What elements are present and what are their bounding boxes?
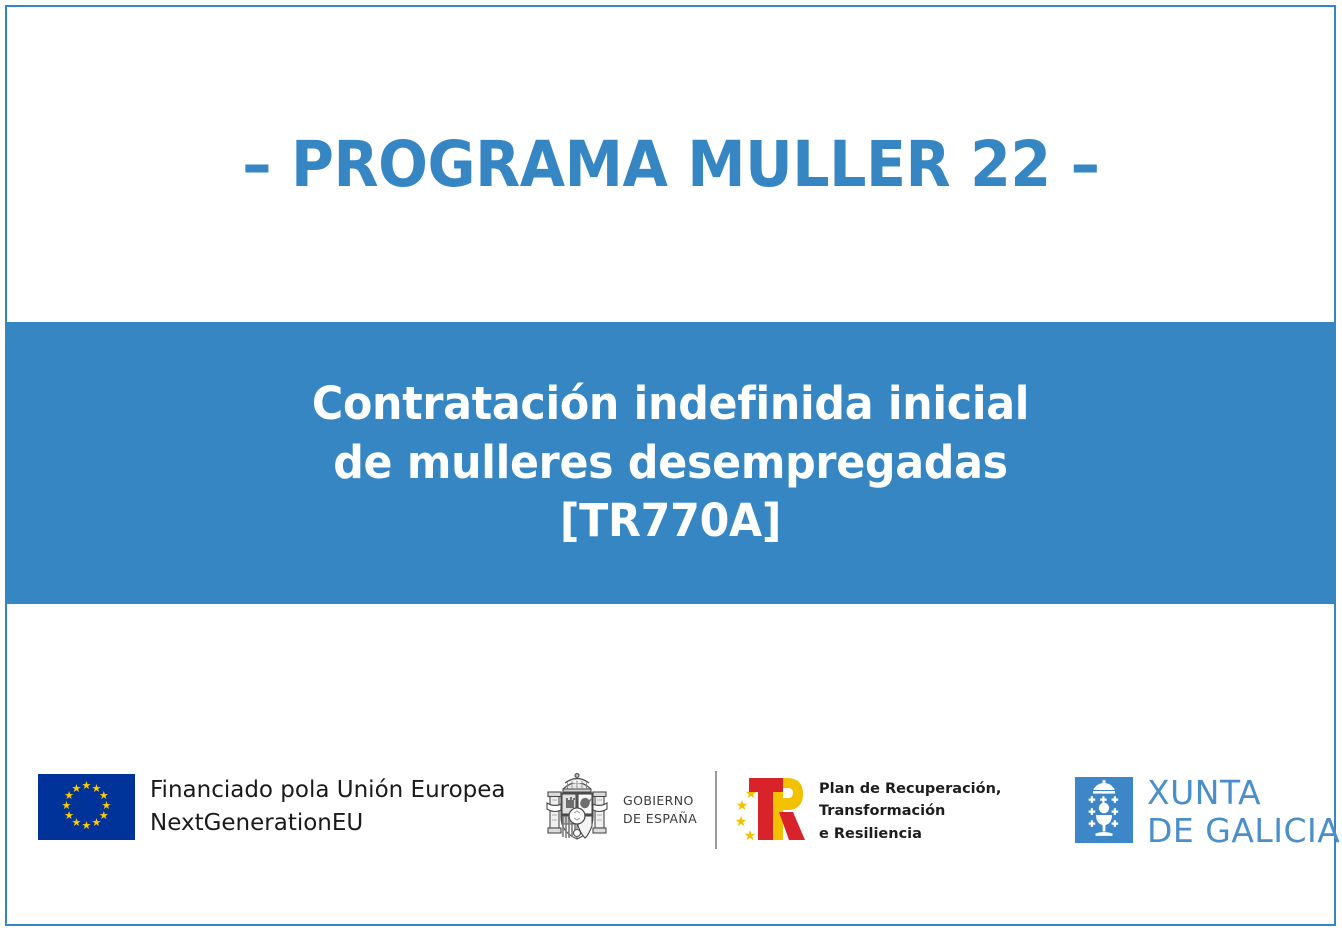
eu-funding-block: Financiado pola Unión Europea NextGenera… [38, 774, 506, 840]
footer-section: Financiado pola Unión Europea NextGenera… [7, 604, 1334, 926]
page-title: – PROGRAMA MULLER 22 – [242, 133, 1099, 196]
logo-row: Financiado pola Unión Europea NextGenera… [7, 774, 1334, 874]
band-title: Contratación indefinida inicial de mulle… [312, 375, 1029, 552]
prtr-line-2: Transformación [819, 800, 1001, 822]
prtr-block: Plan de Recuperación, Transformación e R… [729, 772, 1001, 851]
gobierno-espana-text: GOBIERNO DE ESPAÑA [623, 792, 697, 827]
band-title-line-2: de mulleres desempregadas [312, 434, 1029, 493]
spain-coat-of-arms-icon [541, 770, 613, 849]
gobierno-line-1: GOBIERNO [623, 792, 697, 809]
prtr-text: Plan de Recuperación, Transformación e R… [819, 778, 1001, 845]
header-section: – PROGRAMA MULLER 22 – [7, 7, 1334, 322]
band-title-line-1: Contratación indefinida inicial [312, 375, 1029, 434]
gobierno-line-2: DE ESPAÑA [623, 810, 697, 827]
poster-page: – PROGRAMA MULLER 22 – Contratación inde… [0, 0, 1342, 933]
galicia-emblem-icon [1075, 777, 1133, 848]
title-band: Contratación indefinida inicial de mulle… [7, 322, 1334, 604]
prtr-line-3: e Resiliencia [819, 823, 1001, 845]
prtr-tr-logo-icon [729, 772, 805, 851]
prtr-line-1: Plan de Recuperación, [819, 778, 1001, 800]
gobierno-espana-block: GOBIERNO DE ESPAÑA [541, 770, 697, 849]
xunta-de-galicia-text: XUNTA DE GALICIA [1147, 774, 1340, 851]
band-title-line-3: [TR770A] [312, 492, 1029, 551]
eu-funding-line-1: Financiado pola Unión Europea [150, 774, 506, 807]
xunta-de-galicia-block: XUNTA DE GALICIA [1075, 774, 1340, 851]
eu-funding-line-2: NextGenerationEU [150, 807, 506, 840]
xunta-line-2: DE GALICIA [1147, 812, 1340, 850]
logo-divider [715, 771, 717, 849]
xunta-line-1: XUNTA [1147, 774, 1340, 812]
eu-funding-text: Financiado pola Unión Europea NextGenera… [150, 774, 506, 839]
eu-flag-icon [38, 774, 135, 840]
